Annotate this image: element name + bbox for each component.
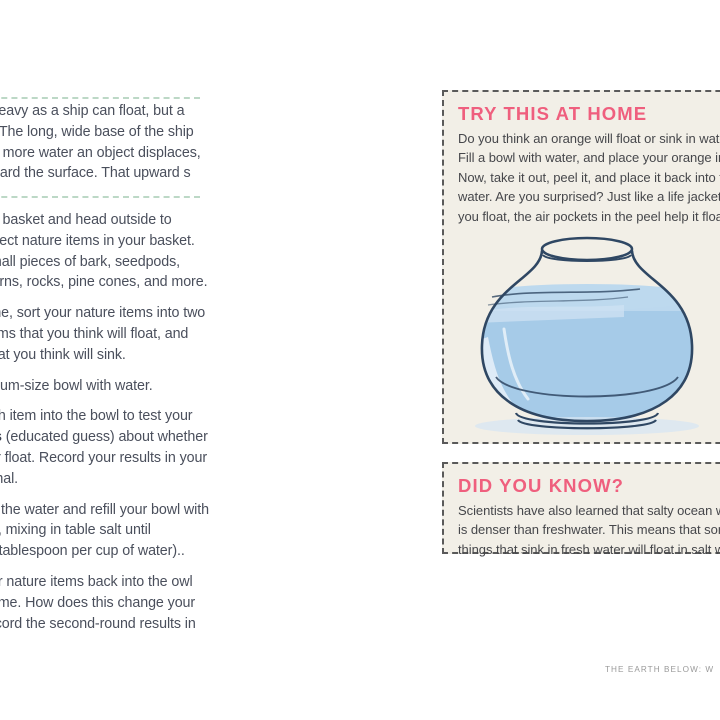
right-page: TRY THIS AT HOME Do you think an orange …	[400, 0, 720, 720]
intro-paragraph: g as big and heavy as a ship can float, …	[0, 101, 206, 205]
list-item-text: Dump out the water and refill your bowl …	[0, 502, 209, 560]
callout-body: Scientists have also learned that salty …	[458, 501, 720, 559]
activity-steps-list: Grab your basket and head outside to plo…	[0, 210, 210, 665]
callout-title: DID YOU KNOW?	[458, 475, 720, 497]
left-page: AT? g as big and heavy as a ship can flo…	[0, 0, 288, 720]
list-item: Place each item into the bowl to test yo…	[0, 406, 210, 489]
list-item-text-before: Place each item into the bowl to test yo…	[0, 408, 192, 424]
page-footer: THE EARTH BELOW: W	[605, 665, 714, 674]
list-item: Grab your basket and head outside to plo…	[0, 210, 210, 293]
glass-bowl-illustration	[444, 217, 720, 439]
callout-title: TRY THIS AT HOME	[458, 103, 720, 125]
divider-middle	[0, 196, 200, 198]
list-item: Fill a medium-size bowl with water.	[0, 376, 210, 397]
book-spread: AT? g as big and heavy as a ship can flo…	[0, 0, 720, 720]
callout-did-you-know: DID YOU KNOW? Scientists have also learn…	[442, 462, 720, 554]
list-item-text: Fill a medium-size bowl with water.	[0, 378, 153, 394]
list-item-text-after: (educated guess) about whether will sink…	[0, 429, 208, 487]
list-item: Once home, sort your nature items into t…	[0, 303, 210, 365]
divider-top	[0, 97, 200, 99]
list-item-text: Grab your basket and head outside to plo…	[0, 212, 207, 290]
callout-try-this-at-home: TRY THIS AT HOME Do you think an orange …	[442, 90, 720, 444]
callout-body: Do you think an orange will float or sin…	[458, 129, 720, 226]
list-item: Dump out the water and refill your bowl …	[0, 500, 210, 562]
list-item-text: Place your nature items back into the ow…	[0, 574, 196, 652]
list-item: Place your nature items back into the ow…	[0, 572, 210, 655]
list-item-text: Once home, sort your nature items into t…	[0, 305, 205, 363]
